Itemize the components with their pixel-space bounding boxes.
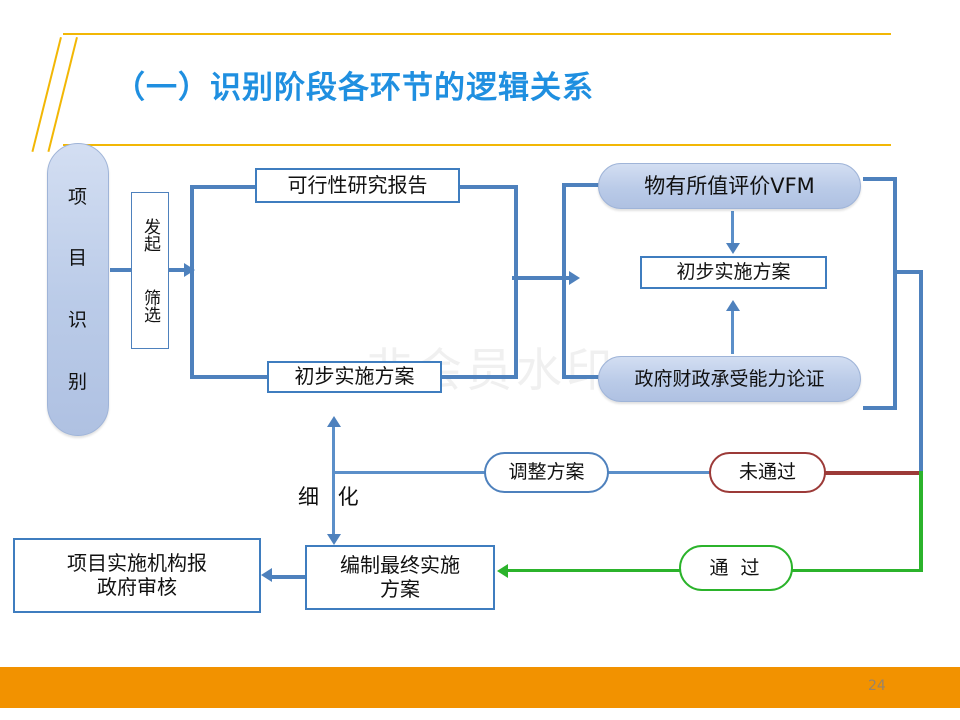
footer-bar [0,667,960,708]
node-preliminary-implementation-plan-left[interactable]: 初步实施方案 [267,361,442,393]
connector-pass-horizontal-right [790,569,923,572]
arrow-refine-down [327,534,341,545]
arrow-refine-up [327,416,341,427]
connector-mid-bracket-top [458,185,518,189]
page-number: 24 [868,678,886,694]
connector-left-bracket-top [190,185,260,189]
connector-fail-to-spine [824,471,923,475]
connector-far-right-vertical [893,177,897,410]
node-initiate-line-0: 发起 [140,218,160,252]
arrow-gov-to-prelim [726,300,740,311]
slide-title: （一）识别阶段各环节的逻辑关系 [114,62,594,107]
connector-right-spine [919,270,923,474]
node-adjust-plan[interactable]: 调整方案 [484,452,609,493]
connector-mid-bracket-bottom [440,375,518,379]
arrow-vfm-to-prelim [726,243,740,254]
node-final-implementation-plan[interactable]: 编制最终实施 方案 [305,545,495,610]
node-project-line-1: 目 [68,247,88,269]
node-value-for-money-vfm[interactable]: 物有所值评价VFM [598,163,861,209]
node-project-line-3: 别 [68,371,88,393]
presentation-slide: （一）识别阶段各环节的逻辑关系 非会员水印 [0,0,960,720]
connector-final-to-report [272,575,307,579]
node-initiate-screen[interactable]: 发起 筛选 [131,192,169,349]
node-passed[interactable]: 通 过 [679,545,793,591]
node-feasibility-study-report[interactable]: 可行性研究报告 [255,168,460,203]
connector-far-right-top [863,177,897,181]
label-refine: 细 化 [298,481,365,511]
node-government-fiscal-capacity[interactable]: 政府财政承受能力论证 [598,356,861,402]
connector-right-bracket-bottom [562,375,602,379]
node-project-line-2: 识 [68,309,88,331]
node-report-to-government-review[interactable]: 项目实施机构报 政府审核 [13,538,261,613]
title-diagonal-line-1 [47,37,77,152]
connector-right-bracket-top [562,183,602,187]
connector-left-bracket-vertical [190,185,194,379]
connector-adjust-to-refine [333,471,486,474]
connector-pass-horizontal-left [508,569,681,572]
node-not-passed[interactable]: 未通过 [709,452,826,493]
connector-mid-bracket-vertical [514,185,518,379]
node-project-line-0: 项 [68,186,88,208]
node-project-identification[interactable]: 项 目 识 别 [47,143,109,436]
connector-adjust-to-fail [607,471,711,474]
connector-right-bracket-vertical [562,183,566,379]
connector-gov-to-prelim [731,310,734,354]
connector-pass-spine [919,471,923,572]
connector-far-right-bottom [863,406,897,410]
arrow-final-to-report [261,568,272,582]
arrow-mid-to-right [569,271,580,285]
node-initiate-line-1: 筛选 [140,289,160,323]
title-rule-top [63,33,891,35]
connector-vfm-to-prelim [731,211,734,245]
connector-left-bracket-bottom [190,375,270,379]
arrow-pass-to-final-plan [497,564,508,578]
title-rule-bottom [63,144,891,146]
title-diagonal-line-2 [31,37,61,152]
node-preliminary-implementation-plan-right[interactable]: 初步实施方案 [640,256,827,289]
